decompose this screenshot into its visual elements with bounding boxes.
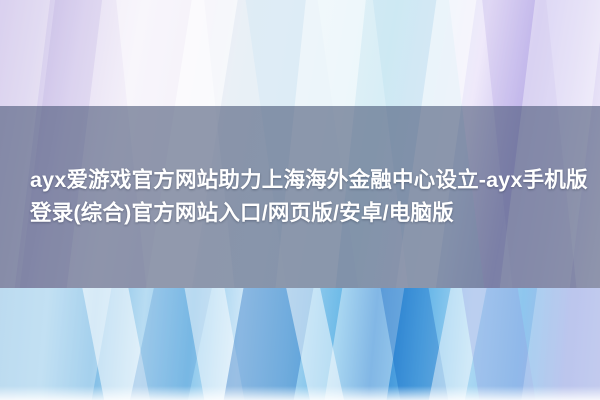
banner-caption: ayx爱游戏官方网站助力上海海外金融中心设立-ayx手机版登录(综合)官方网站入… [30,164,600,230]
caption-container: ayx爱游戏官方网站助力上海海外金融中心设立-ayx手机版登录(综合)官方网站入… [0,106,600,288]
bottom-fade-overlay [0,386,600,400]
promo-banner: ayx爱游戏官方网站助力上海海外金融中心设立-ayx手机版登录(综合)官方网站入… [0,0,600,400]
background-bottom-geometric [0,288,600,400]
blue-facet-11 [515,288,600,400]
